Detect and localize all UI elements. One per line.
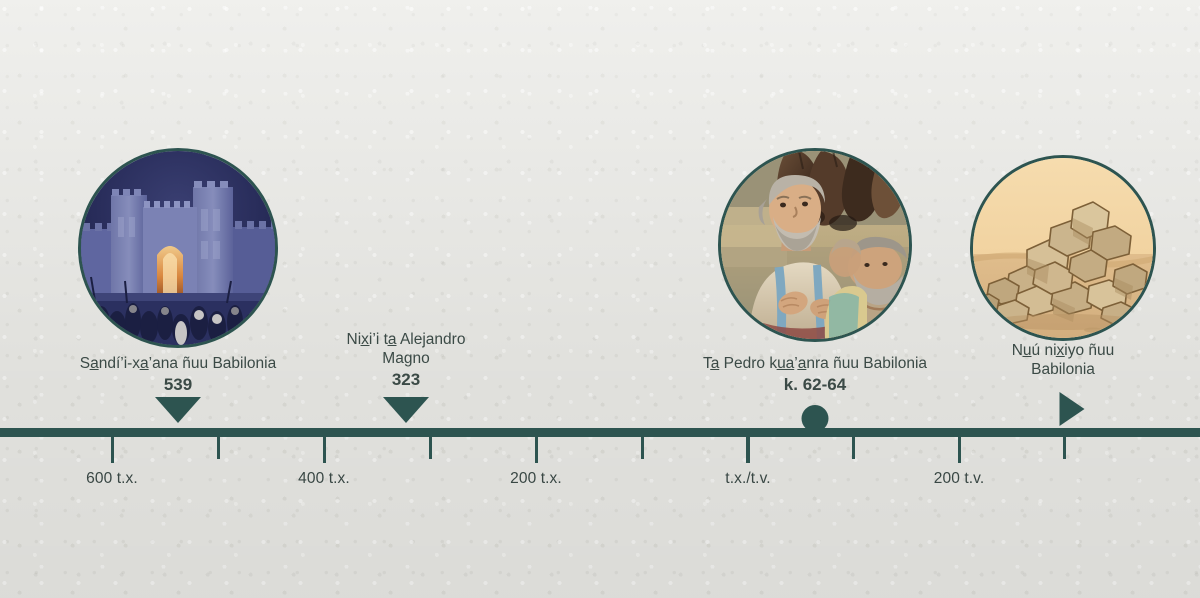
axis-tick-label: 600 t.x. (86, 470, 138, 488)
event-label-death-of-alexander: Nix̲i’i ta̲ Alejandro Magno 323 (236, 330, 576, 390)
event-title-line2: Babilonia (913, 360, 1200, 379)
event-title-line1: Nix̲i’i ta̲ Alejandro (236, 330, 576, 349)
axis-tick (852, 437, 855, 459)
babylon-gate-night-icon (81, 151, 275, 345)
axis-tick (535, 437, 538, 463)
marker-right-triangle (1060, 392, 1085, 426)
event-date: 323 (236, 369, 576, 390)
axis-tick (323, 437, 326, 463)
thumbnail-babylon-ruins (970, 155, 1156, 341)
event-title-line2: Magno (236, 349, 576, 368)
axis-tick-label: 400 t.x. (298, 470, 350, 488)
axis-tick (429, 437, 432, 459)
timeline-infographic: Sa̲ndí’i-xa̲’ana ñuu Babilonia 539 Nix̲i… (0, 0, 1200, 598)
axis-tick (958, 437, 961, 463)
axis-tick (217, 437, 220, 459)
marker-down-triangle (383, 397, 429, 423)
axis-tick (111, 437, 114, 463)
axis-tick-label: t.x./t.v. (725, 470, 770, 488)
peter-teaching-icon (721, 151, 909, 339)
thumbnail-peter-teaching (718, 148, 912, 342)
axis-tick-label: 200 t.v. (934, 470, 985, 488)
event-label-babylon-ruins: Nu̲ú nix̲iyo ñuu Babilonia (913, 341, 1200, 379)
axis-tick (1063, 437, 1066, 459)
axis-tick-label: 200 t.x. (510, 470, 562, 488)
event-title-line1: Nu̲ú nix̲iyo ñuu (913, 341, 1200, 360)
thumbnail-babylon-gate-night (78, 148, 278, 348)
marker-down-triangle (155, 397, 201, 423)
axis-tick (746, 437, 750, 463)
timeline-axis-bar (0, 428, 1200, 437)
axis-tick (641, 437, 644, 459)
babylon-ruins-icon (973, 158, 1153, 338)
